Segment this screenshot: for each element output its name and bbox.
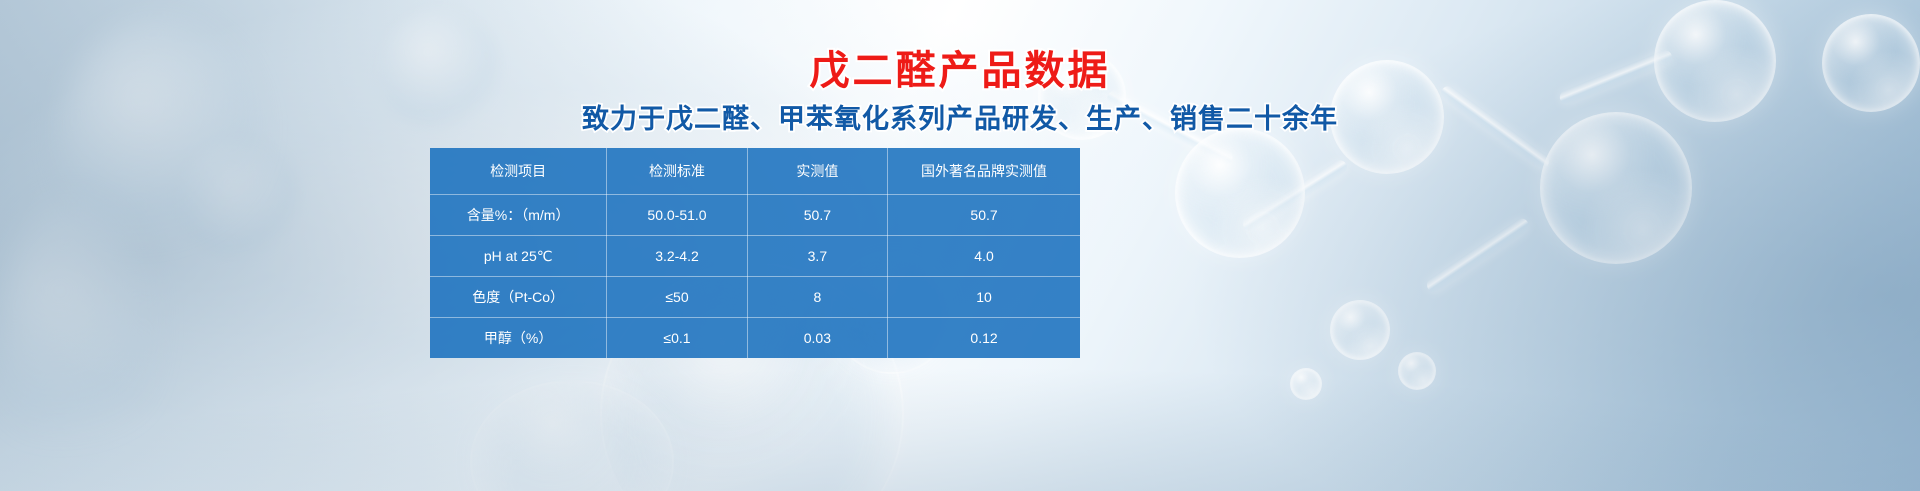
column-header-foreign: 国外著名品牌实测值 <box>888 148 1080 195</box>
cell-standard: 3.2-4.2 <box>607 236 747 277</box>
table-row: 色度（Pt-Co） ≤50 8 10 <box>430 277 1080 318</box>
table-row: 含量%：（m/m） 50.0-51.0 50.7 50.7 <box>430 195 1080 236</box>
cell-foreign: 10 <box>888 277 1080 318</box>
cell-item: 色度（Pt-Co） <box>430 277 607 318</box>
spec-table: 检测项目 检测标准 实测值 国外著名品牌实测值 含量%：（m/m） 50.0-5… <box>430 148 1080 358</box>
cell-foreign: 50.7 <box>888 195 1080 236</box>
cell-foreign: 0.12 <box>888 318 1080 359</box>
cell-standard: ≤0.1 <box>607 318 747 359</box>
cell-item: 含量%：（m/m） <box>430 195 607 236</box>
column-header-standard: 检测标准 <box>607 148 747 195</box>
cell-foreign: 4.0 <box>888 236 1080 277</box>
page-subtitle: 致力于戊二醛、甲苯氧化系列产品研发、生产、销售二十余年 <box>582 104 1338 136</box>
cell-measured: 0.03 <box>747 318 887 359</box>
cell-standard: 50.0-51.0 <box>607 195 747 236</box>
table-header-row: 检测项目 检测标准 实测值 国外著名品牌实测值 <box>430 148 1080 195</box>
spec-table-head: 检测项目 检测标准 实测值 国外著名品牌实测值 <box>430 148 1080 195</box>
title-container: 戊二醛产品数据 <box>0 48 1920 94</box>
table-row: 甲醇（%） ≤0.1 0.03 0.12 <box>430 318 1080 359</box>
page-title: 戊二醛产品数据 <box>810 48 1111 94</box>
column-header-measured: 实测值 <box>747 148 887 195</box>
spec-table-container: 检测项目 检测标准 实测值 国外著名品牌实测值 含量%：（m/m） 50.0-5… <box>430 148 1080 358</box>
column-header-item: 检测项目 <box>430 148 607 195</box>
cell-item: pH at 25℃ <box>430 236 607 277</box>
table-row: pH at 25℃ 3.2-4.2 3.7 4.0 <box>430 236 1080 277</box>
cell-measured: 8 <box>747 277 887 318</box>
cell-measured: 3.7 <box>747 236 887 277</box>
product-data-banner: 戊二醛产品数据 致力于戊二醛、甲苯氧化系列产品研发、生产、销售二十余年 检测项目… <box>0 0 1920 491</box>
cell-item: 甲醇（%） <box>430 318 607 359</box>
banner-content: 戊二醛产品数据 致力于戊二醛、甲苯氧化系列产品研发、生产、销售二十余年 检测项目… <box>0 0 1920 491</box>
cell-measured: 50.7 <box>747 195 887 236</box>
subtitle-container: 致力于戊二醛、甲苯氧化系列产品研发、生产、销售二十余年 <box>0 104 1920 136</box>
cell-standard: ≤50 <box>607 277 747 318</box>
spec-table-body: 含量%：（m/m） 50.0-51.0 50.7 50.7 pH at 25℃ … <box>430 195 1080 359</box>
